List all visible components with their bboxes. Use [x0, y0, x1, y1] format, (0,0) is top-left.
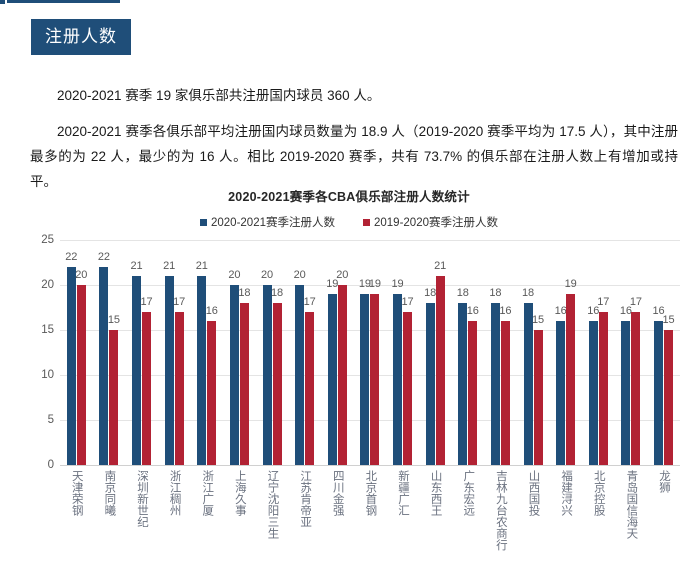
bar-value-label: 19 [369, 279, 381, 290]
bar-value-label: 16 [499, 306, 511, 317]
y-axis-tick-label: 25 [41, 234, 54, 246]
bar-group: 2018 [223, 240, 256, 465]
bar-value-label: 20 [228, 270, 240, 281]
y-axis-tick-label: 10 [41, 369, 54, 381]
bar: 18 [524, 303, 533, 465]
bar-value-label: 20 [294, 270, 306, 281]
x-axis-category-label: 福建浔兴 [559, 470, 572, 516]
bar: 22 [67, 267, 76, 465]
bar: 19 [360, 294, 369, 465]
x-axis-category: 南京同曦 [93, 470, 126, 516]
bar: 15 [109, 330, 118, 465]
bar: 20 [230, 285, 239, 465]
y-axis-tick-label: 5 [48, 414, 54, 426]
x-axis-category-label: 山西国投 [527, 470, 540, 516]
bar-group: 1920 [321, 240, 354, 465]
bar-value-label: 21 [163, 261, 175, 272]
bar-value-label: 15 [532, 315, 544, 326]
bar: 20 [77, 285, 86, 465]
bar-group: 1815 [517, 240, 550, 465]
legend-item-2019-2020: 2019-2020赛季注册人数 [363, 214, 498, 230]
bar: 19 [328, 294, 337, 465]
y-axis-tick-label: 0 [48, 459, 54, 471]
bar-value-label: 22 [98, 252, 110, 263]
bar: 17 [599, 312, 608, 465]
bar-group: 2117 [158, 240, 191, 465]
x-axis-category: 青岛国信海天 [615, 470, 648, 539]
x-axis-category: 吉林九台农商行 [484, 470, 517, 551]
bar: 17 [403, 312, 412, 465]
bar-value-label: 19 [391, 279, 403, 290]
x-axis-category-label: 龙狮 [657, 470, 670, 493]
bar: 18 [458, 303, 467, 465]
bar: 16 [621, 321, 630, 465]
x-axis-category-label: 广东宏远 [461, 470, 474, 516]
bar: 20 [338, 285, 347, 465]
bar: 16 [501, 321, 510, 465]
x-axis-category-label: 新疆广汇 [396, 470, 409, 516]
bar-value-label: 17 [304, 297, 316, 308]
x-axis-category: 浙江广厦 [191, 470, 224, 516]
bar-value-label: 16 [555, 306, 567, 317]
x-axis-category-label: 吉林九台农商行 [494, 470, 507, 551]
bar: 16 [468, 321, 477, 465]
bar-value-label: 19 [565, 279, 577, 290]
x-axis-category-label: 浙江广厦 [200, 470, 213, 516]
x-axis-category: 辽宁沈阳三生 [256, 470, 289, 539]
bar-value-label: 17 [173, 297, 185, 308]
bar-value-label: 18 [457, 288, 469, 299]
x-axis-category: 山西国投 [517, 470, 550, 516]
chart-legend: 2020-2021赛季注册人数 2019-2020赛季注册人数 [0, 214, 698, 230]
axis-baseline [60, 465, 680, 466]
x-axis-category-label: 山东西王 [429, 470, 442, 516]
paragraph-2: 2020-2021 赛季各俱乐部平均注册国内球员数量为 18.9 人（2019-… [30, 120, 678, 195]
bar: 17 [175, 312, 184, 465]
bar: 18 [240, 303, 249, 465]
bar-group: 1816 [484, 240, 517, 465]
y-axis: 0510152025 [30, 240, 60, 465]
bar-value-label: 17 [401, 297, 413, 308]
legend-label: 2020-2021赛季注册人数 [211, 214, 335, 230]
bar-group: 2215 [93, 240, 126, 465]
legend-item-2020-2021: 2020-2021赛季注册人数 [200, 214, 335, 230]
chart-container: 2020-2021赛季各CBA俱乐部注册人数统计 2020-2021赛季注册人数… [0, 186, 698, 566]
bar-value-label: 17 [630, 297, 642, 308]
bar-value-label: 20 [336, 270, 348, 281]
bar: 17 [305, 312, 314, 465]
top-divider-rule [0, 0, 120, 4]
x-axis-category-label: 青岛国信海天 [625, 470, 638, 539]
bar: 19 [370, 294, 379, 465]
x-axis-category: 天津荣钢 [60, 470, 93, 516]
bar: 16 [556, 321, 565, 465]
x-axis-category: 上海久事 [223, 470, 256, 516]
x-axis-category: 北京首钢 [354, 470, 387, 516]
x-axis-category-label: 北京控股 [592, 470, 605, 516]
bar: 16 [589, 321, 598, 465]
bar: 20 [263, 285, 272, 465]
bar-value-label: 20 [261, 270, 273, 281]
chart-title: 2020-2021赛季各CBA俱乐部注册人数统计 [0, 186, 698, 205]
bar-value-label: 18 [238, 288, 250, 299]
bar-group: 1619 [549, 240, 582, 465]
bar-value-label: 16 [206, 306, 218, 317]
bar-group: 1816 [452, 240, 485, 465]
rule-line [7, 0, 120, 3]
x-axis-category: 浙江稠州 [158, 470, 191, 516]
bar-group: 1615 [647, 240, 680, 465]
bar-value-label: 18 [489, 288, 501, 299]
x-axis-category-label: 深圳新世纪 [135, 470, 148, 528]
x-axis-category: 深圳新世纪 [125, 470, 158, 528]
x-axis-category-label: 四川金强 [331, 470, 344, 516]
bar-group: 2220 [60, 240, 93, 465]
bar-value-label: 20 [75, 270, 87, 281]
x-axis-category-label: 上海久事 [233, 470, 246, 516]
bar-groups: 2220221521172117211620182018201719201919… [60, 240, 680, 465]
x-axis-category: 四川金强 [321, 470, 354, 516]
bar-group: 1917 [386, 240, 419, 465]
x-axis-category-label: 天津荣钢 [70, 470, 83, 516]
bar-group: 2116 [191, 240, 224, 465]
x-axis-category: 福建浔兴 [549, 470, 582, 516]
bar: 18 [491, 303, 500, 465]
x-axis-category: 北京控股 [582, 470, 615, 516]
bar-group: 1617 [615, 240, 648, 465]
y-axis-tick-label: 15 [41, 324, 54, 336]
bar-value-label: 17 [140, 297, 152, 308]
bar-value-label: 22 [65, 252, 77, 263]
bar-group: 1919 [354, 240, 387, 465]
bar: 16 [654, 321, 663, 465]
x-axis-category: 广东宏远 [452, 470, 485, 516]
bar: 19 [566, 294, 575, 465]
bar-value-label: 21 [130, 261, 142, 272]
bar-value-label: 18 [271, 288, 283, 299]
x-axis-category: 江苏肯帝亚 [288, 470, 321, 528]
bar: 18 [426, 303, 435, 465]
x-axis-category: 新疆广汇 [386, 470, 419, 516]
plot-area: 0510152025 22202215211721172116201820182… [30, 240, 680, 465]
bar: 22 [99, 267, 108, 465]
legend-label: 2019-2020赛季注册人数 [374, 214, 498, 230]
section-badge: 注册人数 [31, 19, 131, 55]
y-axis-tick-label: 20 [41, 279, 54, 291]
bar: 19 [393, 294, 402, 465]
bar-value-label: 21 [196, 261, 208, 272]
bar-group: 2018 [256, 240, 289, 465]
bar-value-label: 18 [424, 288, 436, 299]
x-axis-category: 龙狮 [647, 470, 680, 493]
x-axis-category-label: 南京同曦 [103, 470, 116, 516]
bar-group: 2017 [288, 240, 321, 465]
x-axis-category-label: 北京首钢 [364, 470, 377, 516]
bar-value-label: 18 [522, 288, 534, 299]
x-axis-category-label: 江苏肯帝亚 [298, 470, 311, 528]
x-axis-category-label: 浙江稠州 [168, 470, 181, 516]
bar-value-label: 15 [662, 315, 674, 326]
x-axis-category-label: 辽宁沈阳三生 [266, 470, 279, 539]
bar: 21 [436, 276, 445, 465]
bar: 17 [631, 312, 640, 465]
rule-marker-icon [0, 0, 5, 4]
bar-value-label: 16 [467, 306, 479, 317]
x-axis-labels: 天津荣钢南京同曦深圳新世纪浙江稠州浙江广厦上海久事辽宁沈阳三生江苏肯帝亚四川金强… [60, 470, 680, 551]
bar-group: 2117 [125, 240, 158, 465]
bar-group: 1821 [419, 240, 452, 465]
legend-swatch-icon [363, 219, 370, 226]
bar: 15 [664, 330, 673, 465]
bar: 18 [273, 303, 282, 465]
legend-swatch-icon [200, 219, 207, 226]
bar-group: 1617 [582, 240, 615, 465]
paragraph-1: 2020-2021 赛季 19 家俱乐部共注册国内球员 360 人。 [30, 84, 678, 109]
bar-value-label: 17 [597, 297, 609, 308]
bar: 16 [207, 321, 216, 465]
x-axis-category: 山东西王 [419, 470, 452, 516]
bar: 20 [295, 285, 304, 465]
bar-value-label: 21 [434, 261, 446, 272]
bar-value-label: 15 [108, 315, 120, 326]
bar: 15 [534, 330, 543, 465]
bar: 17 [142, 312, 151, 465]
